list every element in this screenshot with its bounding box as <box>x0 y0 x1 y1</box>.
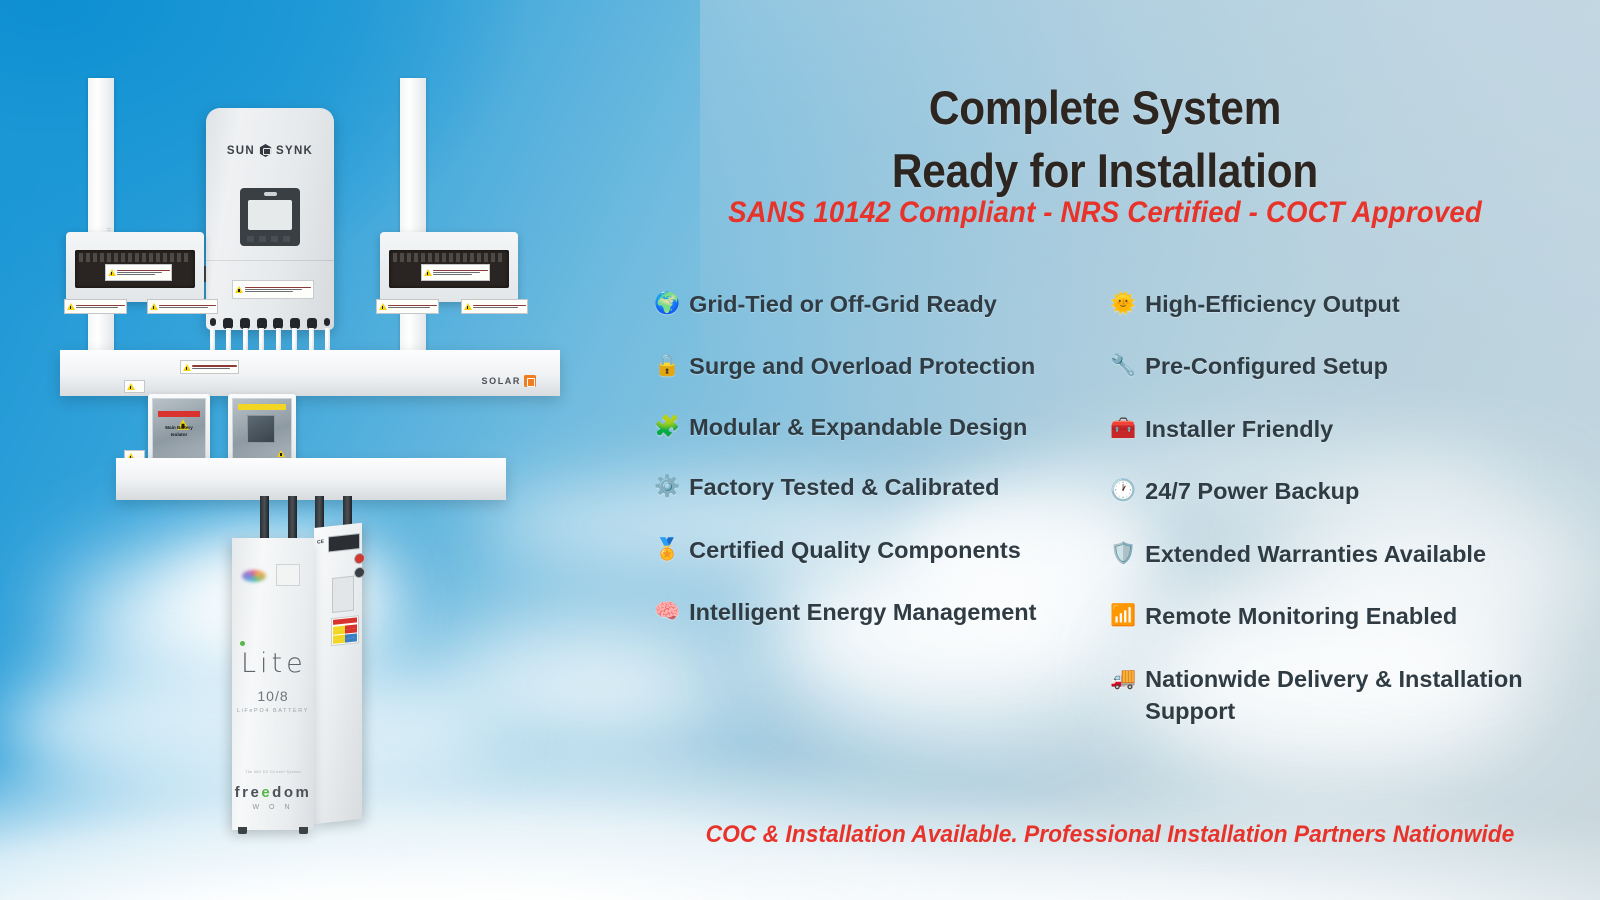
inverter-warning-label <box>232 280 314 299</box>
feature-item-surge-protection: 🔒 Surge and Overload Protection <box>654 350 1084 382</box>
feature-item-modular-design: 🧩 Modular & Expandable Design <box>654 411 1084 443</box>
solar8-logo: SOLAR <box>482 375 537 387</box>
battery-front-panel: Lite 10/8 LiFePO4 BATTERY The 48V DC Cur… <box>232 538 314 830</box>
freedom-won-battery: CE Lite 10/8 <box>232 528 362 838</box>
isolator-red-bar <box>158 411 200 417</box>
db-breaker-row <box>79 253 191 262</box>
battery-side-panel: CE <box>314 523 362 824</box>
battery-foot <box>299 827 308 834</box>
headline-line-1: Complete System <box>929 81 1281 134</box>
solar-system-product-image: │││││ SUN SYNK <box>60 60 620 890</box>
cable-trunking-left: │││││ <box>88 78 114 360</box>
db-breaker-row <box>393 253 505 262</box>
main-battery-isolator-box: Main Battery Isolator <box>148 394 210 466</box>
distribution-board-left <box>66 232 204 302</box>
feature-item-energy-management: 🧠 Intelligent Energy Management <box>654 596 1084 628</box>
board-warning-tag <box>124 380 145 393</box>
feature-label: Remote Monitoring Enabled <box>1145 600 1590 632</box>
battery-foot <box>238 827 247 834</box>
feature-label: Nationwide Delivery & Installation Suppo… <box>1145 663 1590 728</box>
db-tag-left <box>64 299 127 314</box>
surge-protection-box <box>228 394 296 466</box>
battery-vent-grille <box>328 533 360 552</box>
sunsynk-inverter: SUN SYNK <box>206 108 334 330</box>
sunsynk-logo-text-left: SUN <box>227 145 255 157</box>
sunsynk-hex-icon <box>259 144 272 157</box>
feature-item-certified-components: 🏅 Certified Quality Components <box>654 534 1084 566</box>
feature-label: Factory Tested & Calibrated <box>689 471 1084 503</box>
inverter-display-panel <box>240 188 300 246</box>
feature-item-factory-tested: ⚙️ Factory Tested & Calibrated <box>654 471 1084 503</box>
feature-item-power-backup: 🕐 24/7 Power Backup <box>1110 475 1590 507</box>
db-tag-right <box>147 299 218 314</box>
content-panel: Complete System Ready for Installation S… <box>640 0 1600 900</box>
globe-icon: 🌍 <box>654 288 680 318</box>
cable-trunking-right <box>400 78 426 360</box>
compliance-badge-line: SANS 10142 Compliant - NRS Certified - C… <box>677 196 1533 230</box>
inverter-status-led <box>264 192 277 196</box>
distribution-board-right <box>380 232 518 302</box>
puzzle-icon: 🧩 <box>654 411 680 441</box>
warning-triangle-icon <box>277 450 285 457</box>
feature-list: 🌍 Grid-Tied or Off-Grid Ready 🔒 Surge an… <box>654 288 1590 757</box>
feature-label: Certified Quality Components <box>689 534 1084 566</box>
truck-icon: 🚚 <box>1110 663 1136 693</box>
board-label <box>180 360 239 374</box>
label-text-lines <box>245 287 311 293</box>
db-window <box>75 250 195 288</box>
gear-icon: ⚙️ <box>654 471 680 501</box>
feature-label: Extended Warranties Available <box>1145 538 1590 570</box>
shield-icon: 🛡️ <box>1110 538 1136 568</box>
footer-note: COC & Installation Available. Profession… <box>673 818 1547 852</box>
toolbox-icon: 🧰 <box>1110 413 1136 443</box>
battery-warning-sticker <box>331 615 359 646</box>
feature-label: 24/7 Power Backup <box>1145 475 1590 507</box>
feature-label: Intelligent Energy Management <box>689 596 1084 628</box>
battery-brand-subtitle: W O N <box>232 804 314 811</box>
battery-negative-terminal <box>354 566 365 578</box>
feature-label: High-Efficiency Output <box>1145 288 1590 320</box>
battery-brand-name: freedom <box>232 784 314 801</box>
lock-icon: 🔒 <box>654 350 680 380</box>
sunsynk-logo-text-right: SYNK <box>276 145 313 157</box>
inverter-lcd-screen <box>248 200 292 230</box>
ce-mark: CE <box>317 539 324 546</box>
feature-item-remote-monitoring: 📶 Remote Monitoring Enabled <box>1110 600 1590 632</box>
clock-icon: 🕐 <box>1110 475 1136 505</box>
db-tag-right <box>461 299 528 314</box>
feature-column-left: 🌍 Grid-Tied or Off-Grid Ready 🔒 Surge an… <box>654 288 1084 757</box>
sunsynk-logo: SUN SYNK <box>206 144 334 157</box>
solar8-logo-text: SOLAR <box>482 376 522 386</box>
battery-series-name: Lite <box>241 648 307 679</box>
inverter-keypad <box>247 236 293 242</box>
headline-line-2: Ready for Installation <box>892 144 1318 197</box>
warning-triangle-icon <box>235 286 243 293</box>
breaker-window <box>232 398 292 462</box>
feature-label: Installer Friendly <box>1145 413 1590 445</box>
isolator-window: Main Battery Isolator <box>152 398 206 462</box>
promo-banner: │││││ SUN SYNK <box>0 0 1600 900</box>
wrench-icon: 🔧 <box>1110 350 1136 380</box>
main-breaker-block <box>247 415 275 443</box>
db-inner-label <box>105 264 172 281</box>
feature-item-grid-tied: 🌍 Grid-Tied or Off-Grid Ready <box>654 288 1084 320</box>
battery-spec-plate <box>332 576 354 613</box>
sun-icon: 🌞 <box>1110 288 1136 318</box>
medal-icon: 🏅 <box>654 534 680 564</box>
feature-label: Pre-Configured Setup <box>1145 350 1590 382</box>
feature-column-right: 🌞 High-Efficiency Output 🔧 Pre-Configure… <box>1110 288 1590 757</box>
db-window <box>389 250 509 288</box>
solar8-logo-mark <box>524 375 536 387</box>
feature-item-high-efficiency: 🌞 High-Efficiency Output <box>1110 288 1590 320</box>
battery-rating-sticker <box>276 564 300 586</box>
feature-item-installer-friendly: 🧰 Installer Friendly <box>1110 413 1590 445</box>
feature-item-pre-configured: 🔧 Pre-Configured Setup <box>1110 350 1590 382</box>
battery-positive-terminal <box>354 552 365 564</box>
isolator-label-text: Main Battery Isolator <box>157 425 201 438</box>
battery-tagline: The 48V DC Current System <box>232 770 314 774</box>
feature-label: Grid-Tied or Off-Grid Ready <box>689 288 1084 320</box>
breaker-yellow-bar <box>238 404 286 410</box>
feature-label: Modular & Expandable Design <box>689 411 1084 443</box>
battery-model-number: 10/8 <box>232 688 314 704</box>
signal-bars-icon: 📶 <box>1110 600 1136 630</box>
db-tag-left <box>376 299 439 314</box>
lower-mounting-board <box>116 458 506 500</box>
battery-chemistry-label: LiFePO4 BATTERY <box>232 708 314 714</box>
feature-item-nationwide-delivery: 🚚 Nationwide Delivery & Installation Sup… <box>1110 663 1590 728</box>
brain-icon: 🧠 <box>654 596 680 626</box>
battery-hologram-sticker <box>242 570 266 582</box>
page-title: Complete System Ready for Installation <box>687 77 1524 201</box>
inverter-panel-seam <box>206 260 334 261</box>
db-inner-label <box>421 264 490 281</box>
feature-label: Surge and Overload Protection <box>689 350 1084 382</box>
feature-item-extended-warranties: 🛡️ Extended Warranties Available <box>1110 538 1590 570</box>
